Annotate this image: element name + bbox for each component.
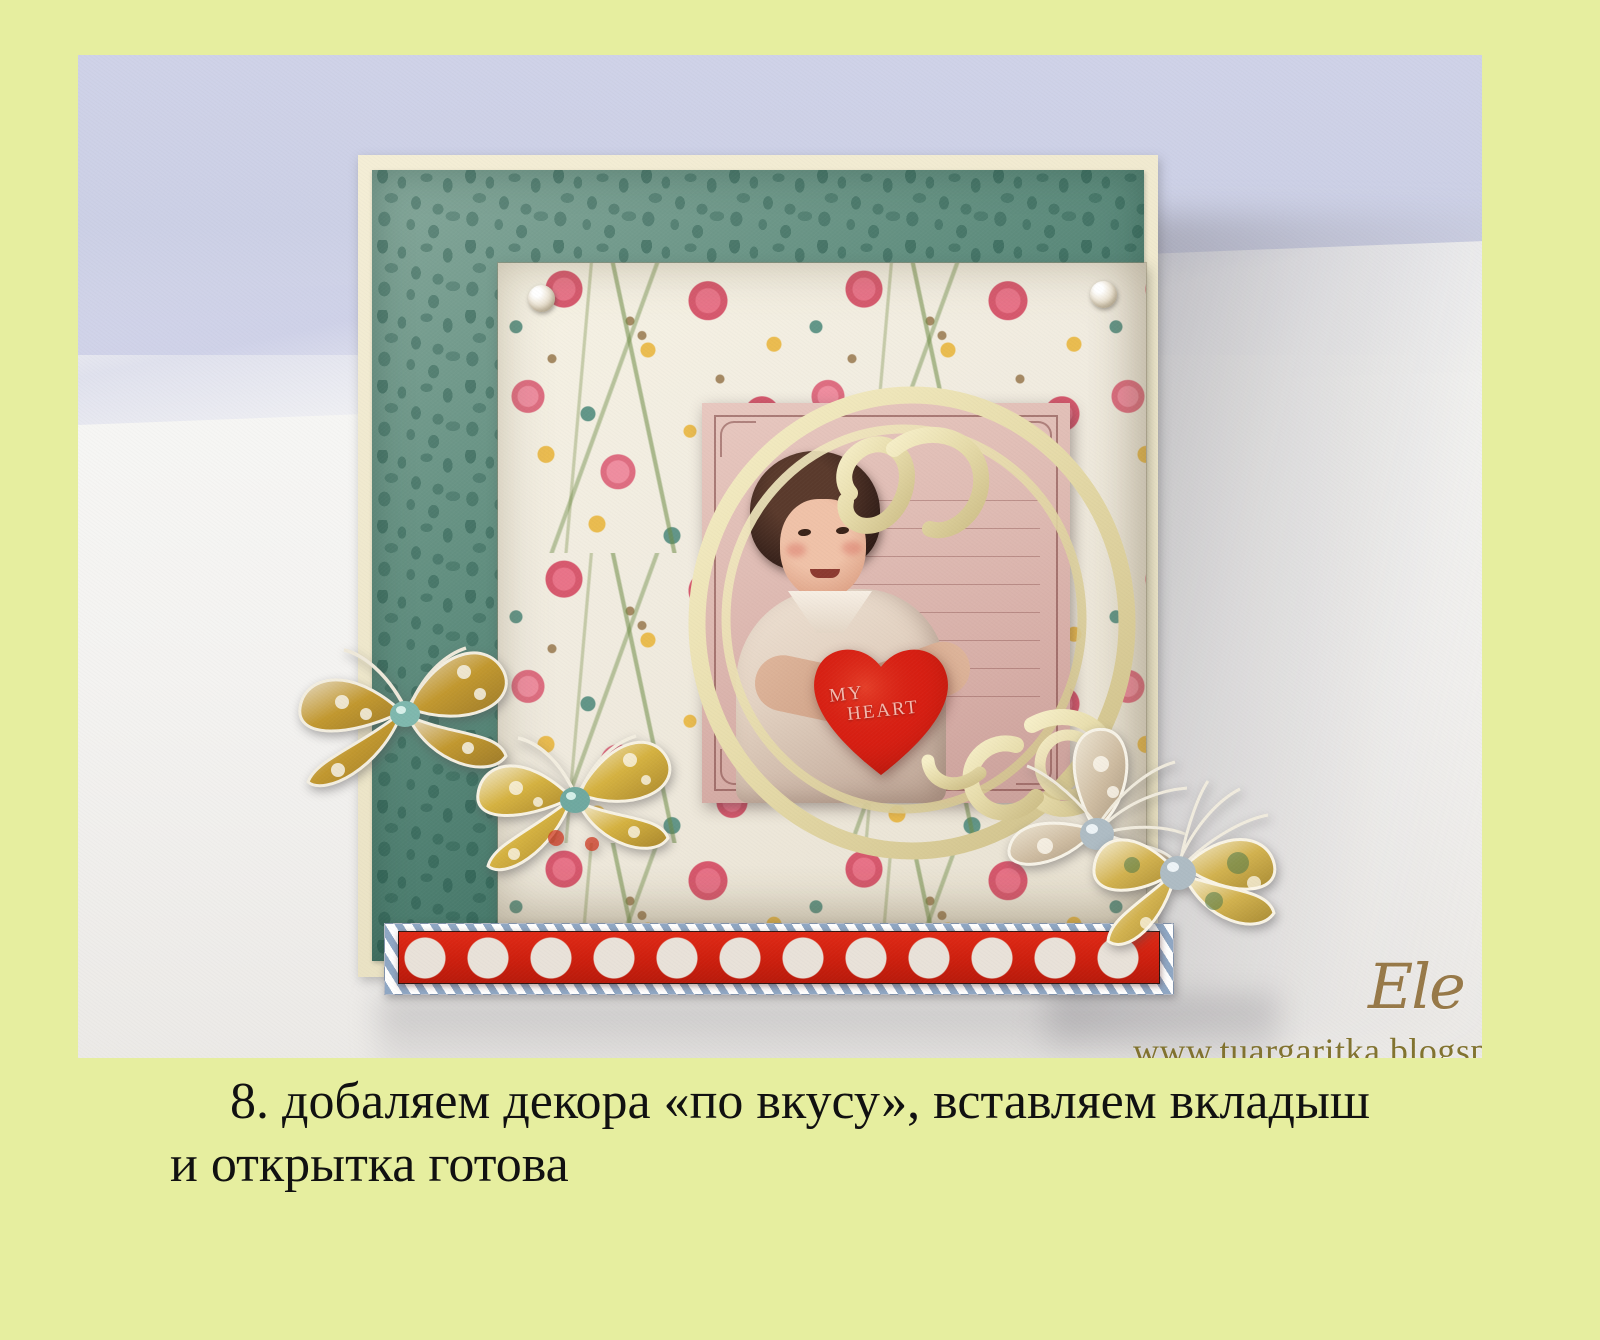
scroll-corner-icon [1016, 421, 1052, 457]
blog-url-watermark: www.tuargaritka.blogspot.com [1133, 1030, 1482, 1058]
pearl-top-right [1090, 281, 1117, 308]
tutorial-caption: 8. добаляем декора «по вкусу», вставляем… [0, 1070, 1600, 1197]
portrait-cheek [842, 541, 862, 555]
caption-line-2: и открытка готова [130, 1133, 1600, 1196]
butterfly-body-pearl [560, 787, 590, 813]
butterfly-left-lower [468, 710, 683, 890]
craft-card-photo: MY HEART [78, 55, 1482, 1058]
scroll-corner-icon [720, 421, 756, 457]
portrait-mouth [810, 569, 840, 578]
butterfly-body-pearl [1160, 856, 1196, 890]
portrait-cheek [786, 543, 806, 557]
caption-line-1: 8. добаляем декора «по вкусу», вставляем… [0, 1070, 1600, 1133]
butterfly-body-pearl [390, 701, 420, 727]
artist-signature: Ele [1368, 950, 1464, 1023]
butterfly-right-lower [1088, 775, 1288, 970]
pearl-top-left [528, 285, 555, 312]
red-polka-dot-ribbon [398, 931, 1160, 984]
